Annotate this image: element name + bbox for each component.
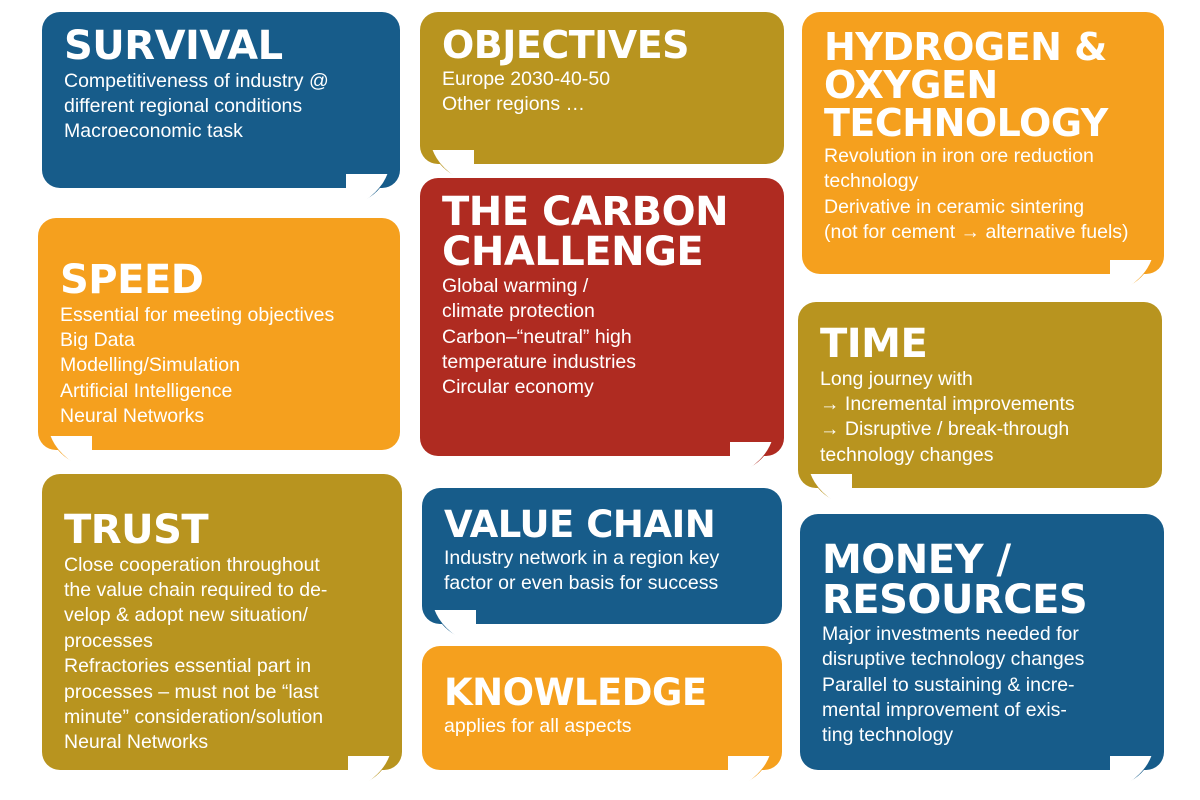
card-knowledge-body: applies for all aspects xyxy=(444,714,762,739)
card-value-chain[interactable]: VALUE CHAIN Industry network in a region… xyxy=(422,488,782,624)
speech-tail-icon xyxy=(808,474,852,518)
card-trust-body: Close cooperation throughout the value c… xyxy=(64,553,382,756)
speech-tail-icon xyxy=(348,756,392,800)
speech-tail-icon xyxy=(1110,756,1154,800)
card-time-body: Long journey with → Incremental improvem… xyxy=(820,367,1142,468)
speech-tail-icon xyxy=(346,174,390,218)
card-value-chain-title: VALUE CHAIN xyxy=(444,506,762,544)
speech-tail-icon xyxy=(1110,260,1154,304)
card-trust-title: TRUST xyxy=(64,510,382,551)
card-time[interactable]: TIME Long journey with → Incremental imp… xyxy=(798,302,1162,488)
speech-tail-icon xyxy=(730,442,774,486)
card-objectives-body: Europe 2030-40-50 Other regions … xyxy=(442,67,764,118)
infographic-canvas: SURVIVAL Competitiveness of industry @ d… xyxy=(0,0,1200,785)
card-carbon-challenge[interactable]: THE CARBON CHALLENGE Global warming / cl… xyxy=(420,178,784,456)
card-survival-body: Competitiveness of industry @ different … xyxy=(64,69,380,145)
card-time-title: TIME xyxy=(820,324,1142,365)
card-hydrogen-oxygen-technology[interactable]: HYDROGEN & OXYGEN TECHNOLOGY Revolution … xyxy=(802,12,1164,274)
card-survival-title: SURVIVAL xyxy=(64,26,380,67)
card-knowledge[interactable]: KNOWLEDGE applies for all aspects xyxy=(422,646,782,770)
card-speed-title: SPEED xyxy=(60,260,380,301)
card-carbon-challenge-body: Global warming / climate protection Carb… xyxy=(442,274,764,401)
card-speed-body: Essential for meeting objectives Big Dat… xyxy=(60,303,380,430)
card-value-chain-body: Industry network in a region key factor … xyxy=(444,546,762,597)
card-hydrogen-oxygen-technology-body: Revolution in iron ore reduction technol… xyxy=(824,144,1144,245)
card-carbon-challenge-title: THE CARBON CHALLENGE xyxy=(442,192,764,272)
card-money-resources-title: MONEY / RESOURCES xyxy=(822,540,1144,620)
card-objectives-title: OBJECTIVES xyxy=(442,26,764,65)
card-hydrogen-oxygen-technology-title: HYDROGEN & OXYGEN TECHNOLOGY xyxy=(824,28,1144,142)
card-knowledge-title: KNOWLEDGE xyxy=(444,674,762,712)
speech-tail-icon xyxy=(728,756,772,800)
card-trust[interactable]: TRUST Close cooperation throughout the v… xyxy=(42,474,402,770)
card-speed[interactable]: SPEED Essential for meeting objectives B… xyxy=(38,218,400,450)
card-objectives[interactable]: OBJECTIVES Europe 2030-40-50 Other regio… xyxy=(420,12,784,164)
card-survival[interactable]: SURVIVAL Competitiveness of industry @ d… xyxy=(42,12,400,188)
card-money-resources-body: Major investments needed for disruptive … xyxy=(822,622,1144,749)
card-money-resources[interactable]: MONEY / RESOURCES Major investments need… xyxy=(800,514,1164,770)
